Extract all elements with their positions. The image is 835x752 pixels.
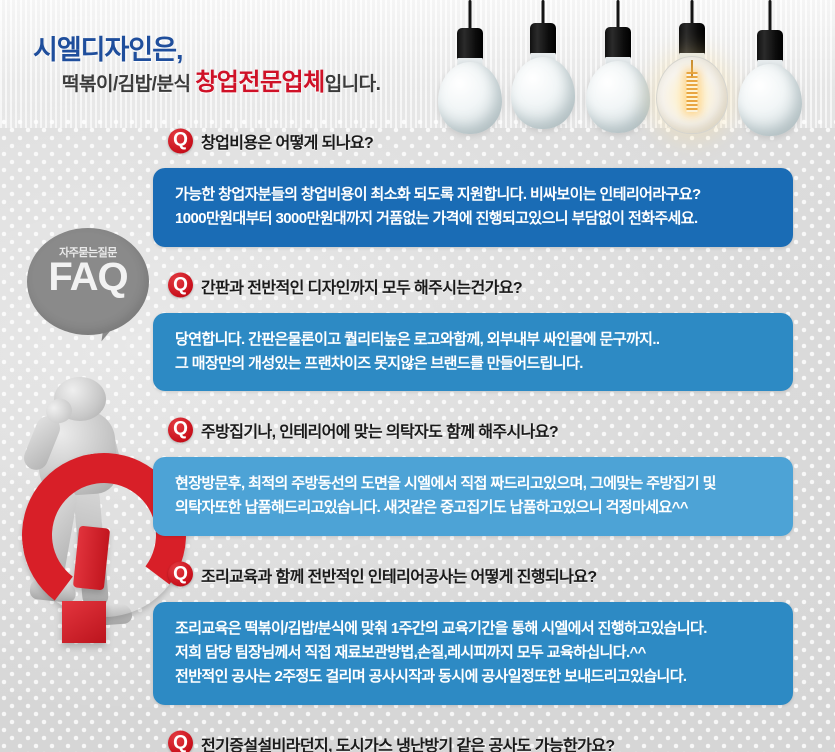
question-text: 전기증설설비라던지, 도시가스 냉난방기 같은 공사도 가능한가요? (201, 732, 615, 752)
bulb-socket-icon (530, 23, 556, 56)
faq-item-2: Q 간판과 전반적인 디자인까지 모두 해주시는건가요? 당연합니다. 간판은물… (0, 263, 835, 392)
spacer (0, 391, 835, 407)
question-mark-badge-icon: Q (168, 417, 193, 442)
answer-box: 조리교육은 떡볶이/김밥/분식에 맞춰 1주간의 교육기간을 통해 시엘에서 진… (153, 602, 793, 705)
bulb-filament-icon (687, 72, 698, 112)
bulb-cord-icon (769, 0, 772, 32)
question-mark-badge-icon: Q (168, 128, 193, 153)
question-mark-badge-icon: Q (168, 273, 193, 298)
light-bulb-2 (503, 0, 583, 130)
answer-line: 그 매장만의 개성있는 프랜차이즈 못지않은 브랜드를 만들어드립니다. (175, 352, 773, 376)
light-bulbs-decoration (430, 0, 835, 132)
question-row[interactable]: Q 창업비용은 어떻게 되나요? (0, 118, 835, 163)
q-letter: Q (168, 733, 193, 752)
faq-item-1: Q 창업비용은 어떻게 되나요? 가능한 창업자분들의 창업비용이 최소화 되도… (0, 118, 835, 247)
faq-page: 시엘디자인은, 떡볶이/김밥/분식 창업전문업체입니다. 자주묻는질문 FAQ (0, 0, 835, 752)
answer-box: 현장방문후, 최적의 주방동선의 도면을 시엘에서 직접 짜드리고있으며, 그에… (153, 457, 793, 536)
spacer (0, 247, 835, 263)
answer-line: 조리교육은 떡볶이/김밥/분식에 맞춰 1주간의 교육기간을 통해 시엘에서 진… (175, 617, 773, 641)
question-text: 조리교육과 함께 전반적인 인테리어공사는 어떻게 진행되나요? (201, 563, 597, 587)
page-header: 시엘디자인은, 떡볶이/김밥/분식 창업전문업체입니다. (0, 0, 460, 118)
question-text: 간판과 전반적인 디자인까지 모두 해주시는건가요? (201, 274, 522, 298)
q-letter: Q (168, 131, 193, 150)
question-text: 주방집기나, 인테리어에 맞는 의탁자도 함께 해주시나요? (201, 418, 558, 442)
light-bulb-5 (730, 0, 810, 130)
question-row[interactable]: Q 주방집기나, 인테리어에 맞는 의탁자도 함께 해주시나요? (0, 407, 835, 452)
answer-box: 가능한 창업자분들의 창업비용이 최소화 되도록 지원합니다. 비싸보이는 인테… (153, 168, 793, 247)
faq-item-3: Q 주방집기나, 인테리어에 맞는 의탁자도 함께 해주시나요? 현장방문후, … (0, 407, 835, 536)
answer-line: 의탁자또한 납품해드리고있습니다. 새것같은 중고집기도 납품하고있으니 걱정마… (175, 496, 773, 520)
answer-line: 전반적인 공사는 2주정도 걸리며 공사시작과 동시에 공사일정또한 보내드리고… (175, 665, 773, 689)
answer-line: 1000만원대부터 3000만원대까지 거품없는 가격에 진행되고있으니 부담없… (175, 207, 773, 231)
light-bulb-4-lit (648, 0, 736, 130)
bulb-socket-icon (757, 30, 783, 63)
answer-line: 현장방문후, 최적의 주방동선의 도면을 시엘에서 직접 짜드리고있으며, 그에… (175, 472, 773, 496)
answer-line: 당연합니다. 간판은물론이고 퀄리티높은 로고와함께, 외부내부 싸인몰에 문구… (175, 328, 773, 352)
answer-line: 저희 담당 팀장님께서 직접 재료보관방법,손질,레시피까지 모두 교육하십니다… (175, 641, 773, 665)
q-letter: Q (168, 420, 193, 439)
faq-item-4: Q 조리교육과 함께 전반적인 인테리어공사는 어떻게 진행되나요? 조리교육은… (0, 552, 835, 705)
subtitle-category: 떡볶이/김밥/분식 (62, 74, 195, 95)
bulb-socket-icon (457, 28, 483, 61)
q-letter: Q (168, 564, 193, 583)
bulb-cord-icon (617, 0, 620, 30)
question-mark-badge-icon: Q (168, 562, 193, 587)
answer-box: 당연합니다. 간판은물론이고 퀄리티높은 로고와함께, 외부내부 싸인몰에 문구… (153, 313, 793, 392)
answer-line: 가능한 창업자분들의 창업비용이 최소화 되도록 지원합니다. 비싸보이는 인테… (175, 183, 773, 207)
bulb-socket-icon (605, 27, 631, 60)
bulb-cord-icon (469, 0, 472, 30)
faq-item-5: Q 전기증설설비라던지, 도시가스 냉난방기 같은 공사도 가능한가요? 물론입… (0, 721, 835, 752)
spacer (0, 536, 835, 552)
question-row[interactable]: Q 조리교육과 함께 전반적인 인테리어공사는 어떻게 진행되나요? (0, 552, 835, 597)
faq-list: Q 창업비용은 어떻게 되나요? 가능한 창업자분들의 창업비용이 최소화 되도… (0, 118, 835, 752)
question-text: 창업비용은 어떻게 되나요? (201, 129, 373, 153)
spacer (0, 705, 835, 721)
q-letter: Q (168, 275, 193, 294)
light-bulb-3 (578, 0, 658, 130)
question-row[interactable]: Q 전기증설설비라던지, 도시가스 냉난방기 같은 공사도 가능한가요? (0, 721, 835, 752)
brand-subtitle: 떡볶이/김밥/분식 창업전문업체입니다. (62, 62, 380, 97)
question-mark-badge-icon: Q (168, 731, 193, 752)
bulb-socket-icon (679, 23, 705, 56)
question-row[interactable]: Q 간판과 전반적인 디자인까지 모두 해주시는건가요? (0, 263, 835, 308)
subtitle-highlight: 창업전문업체 (195, 69, 324, 96)
subtitle-tail: 입니다. (325, 74, 381, 95)
